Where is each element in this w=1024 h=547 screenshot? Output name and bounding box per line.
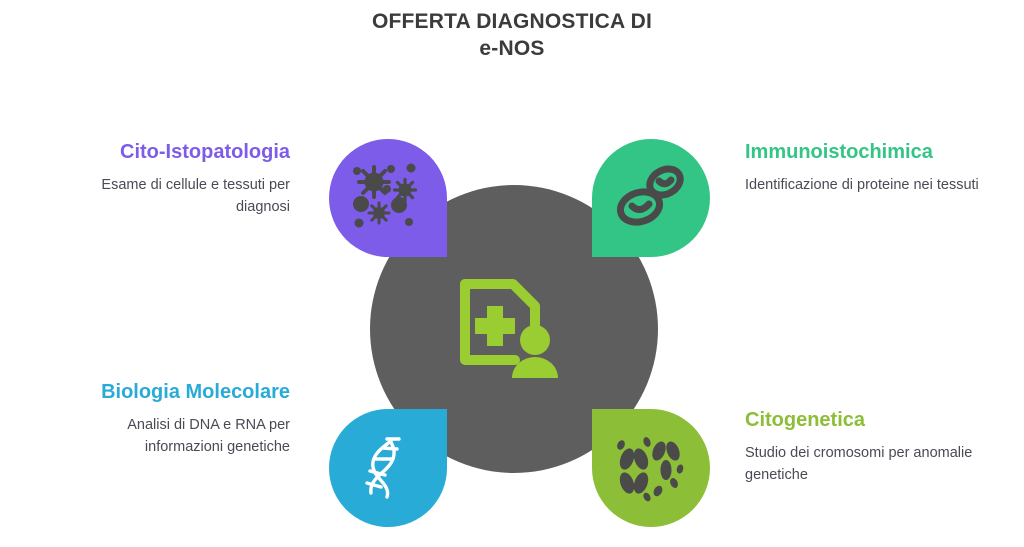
petal-biologia-molecolare[interactable] (329, 409, 447, 527)
title-line-2: e-NOS (0, 35, 1024, 62)
infographic-canvas: OFFERTA DIAGNOSTICA DI e-NOS (0, 0, 1024, 547)
description-biologia-molecolare: Analisi di DNA e RNA per informazioni ge… (50, 414, 290, 458)
chromosomes-icon (592, 409, 710, 527)
medical-record-patient-icon (455, 270, 575, 390)
petal-immunoistochimica[interactable] (592, 139, 710, 257)
cells-cluster-icon (329, 139, 447, 257)
heading-cito-istopatologia: Cito-Istopatologia (50, 140, 290, 165)
label-block-citogenetica: Citogenetica Studio dei cromosomi per an… (745, 408, 985, 486)
description-citogenetica: Studio dei cromosomi per anomalie geneti… (745, 442, 985, 486)
dna-helix-icon (329, 409, 447, 527)
label-block-cito-istopatologia: Cito-Istopatologia Esame di cellule e te… (50, 140, 290, 218)
description-immunoistochimica: Identificazione di proteine nei tessuti (745, 174, 985, 196)
title-line-1: OFFERTA DIAGNOSTICA DI (372, 10, 652, 33)
page-title: OFFERTA DIAGNOSTICA DI e-NOS (0, 8, 1024, 62)
blood-cells-icon (592, 139, 710, 257)
description-cito-istopatologia: Esame di cellule e tessuti per diagnosi (50, 174, 290, 218)
label-block-immunoistochimica: Immunoistochimica Identificazione di pro… (745, 140, 985, 196)
petal-cito-istopatologia[interactable] (329, 139, 447, 257)
label-block-biologia-molecolare: Biologia Molecolare Analisi di DNA e RNA… (50, 380, 290, 458)
heading-immunoistochimica: Immunoistochimica (745, 140, 985, 165)
petal-citogenetica[interactable] (592, 409, 710, 527)
heading-biologia-molecolare: Biologia Molecolare (50, 380, 290, 405)
heading-citogenetica: Citogenetica (745, 408, 985, 433)
